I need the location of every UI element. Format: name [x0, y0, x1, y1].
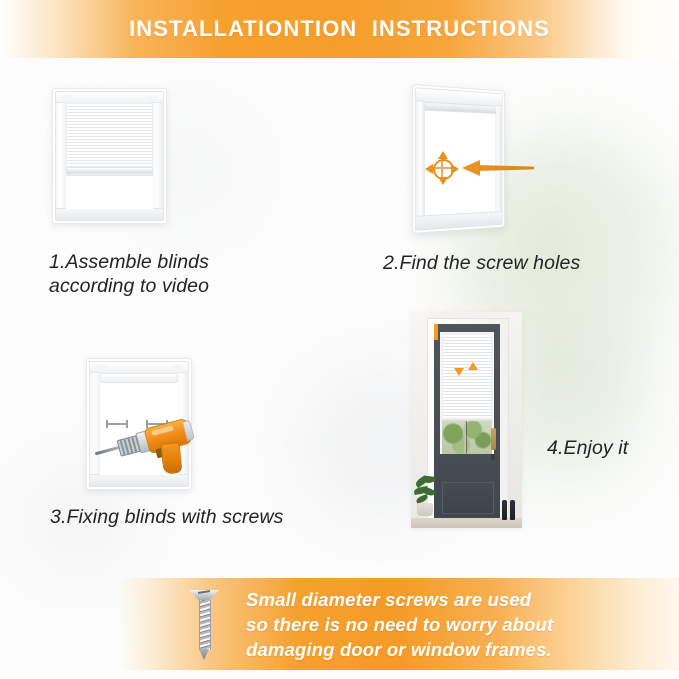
- step-3: 3.Fixing blinds with screws: [86, 358, 192, 490]
- arrow-up-icon: [468, 362, 478, 370]
- outdoor-foliage-view: [442, 421, 492, 454]
- step-1: 1.Assemble blinds according to video: [52, 88, 167, 224]
- potted-plant: [414, 476, 438, 516]
- frame-glass-area: [66, 103, 153, 209]
- header-banner: INSTALLATIONTION INSTRUCTIONS: [0, 0, 679, 58]
- pointer-arrow-left-icon: [462, 160, 534, 176]
- frame-bottom-rail: [55, 208, 164, 221]
- door-lower-panel: [442, 482, 494, 514]
- step-1-caption: 1.Assemble blinds according to video: [49, 250, 299, 298]
- screw-icon: [186, 586, 222, 662]
- pointer-arrow-head: [462, 160, 480, 176]
- drill-handle: [160, 442, 182, 475]
- step-3-caption: 3.Fixing blinds with screws: [50, 505, 350, 529]
- footer-banner: Small diameter screws are used so there …: [119, 578, 679, 670]
- target-arrow-up-icon: [438, 151, 448, 159]
- target-arrow-left-icon: [425, 164, 433, 174]
- plant-pot: [417, 503, 433, 516]
- retracted-pleat-stack: [100, 373, 178, 383]
- boots: [502, 500, 515, 520]
- arrow-down-shaft: [434, 324, 438, 332]
- step-2: 2.Find the screw holes: [412, 84, 522, 234]
- door-lock: [491, 454, 495, 460]
- pleated-fabric: [66, 103, 153, 167]
- page-title: INSTALLATIONTION INSTRUCTIONS: [129, 16, 550, 42]
- arrow-down-icon: [454, 368, 464, 376]
- blind-bottom-rail: [442, 417, 492, 421]
- pointer-arrow-shaft: [478, 165, 534, 171]
- angled-frame-left-side: [415, 100, 425, 218]
- step-4: 4.Enjoy it: [411, 312, 522, 528]
- screw-tip: [199, 649, 209, 660]
- step-2-caption: 2.Find the screw holes: [383, 251, 679, 275]
- frame-glass-area: [100, 373, 178, 475]
- window-mullion: [464, 421, 466, 454]
- footer-note: Small diameter screws are used so there …: [246, 587, 553, 662]
- door: [434, 324, 500, 524]
- screw-mark-left: [106, 423, 128, 425]
- installed-door-photo: [411, 312, 522, 528]
- angled-frame-right-side: [496, 105, 503, 214]
- target-arrow-right-icon: [451, 164, 459, 174]
- target-arrow-down-icon: [438, 177, 448, 185]
- boot-left: [502, 500, 507, 520]
- pleat-bottom-bar: [66, 167, 153, 176]
- blind-frame-with-drill-illustration: [86, 358, 192, 490]
- door-handle: [491, 428, 496, 450]
- arrow-up-shaft: [434, 332, 438, 340]
- screw-shaft: [199, 600, 211, 650]
- step-4-caption: 4.Enjoy it: [547, 436, 679, 460]
- installed-pleated-blind: [442, 334, 492, 418]
- installation-instructions-page: INSTALLATIONTION INSTRUCTIONS 1.Assemble…: [0, 0, 679, 679]
- boot-right: [510, 500, 515, 520]
- screw-hole-target-icon: [425, 151, 459, 185]
- blind-frame-illustration: [52, 88, 167, 224]
